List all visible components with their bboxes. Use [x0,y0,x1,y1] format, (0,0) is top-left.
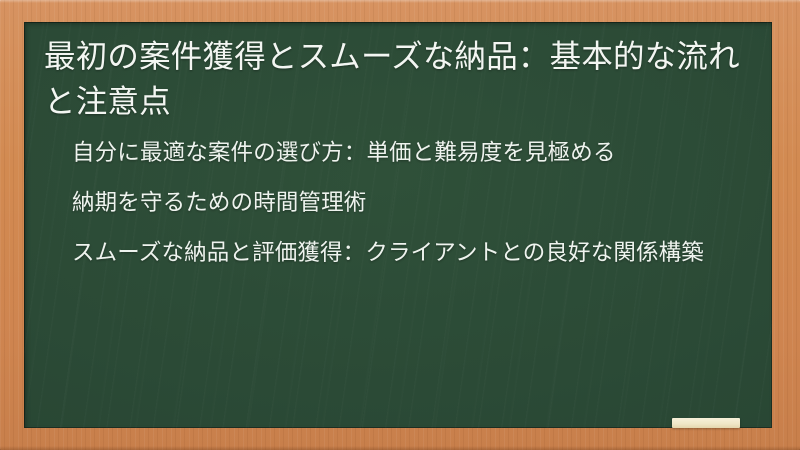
table-of-contents: 自分に最適な案件の選び方：単価と難易度を見極める 納期を守るための時間管理術 ス… [42,137,754,269]
list-item: スムーズな納品と評価獲得：クライアントとの良好な関係構築 [72,237,720,270]
page-title: 最初の案件獲得とスムーズな納品：基本的な流れと注意点 [42,30,754,123]
list-item: 納期を守るための時間管理術 [72,187,720,220]
board-content: 最初の案件獲得とスムーズな納品：基本的な流れと注意点 自分に最適な案件の選び方：… [24,22,772,428]
frame-top-highlight [0,0,800,3]
chalkboard-slide: 最初の案件獲得とスムーズな納品：基本的な流れと注意点 自分に最適な案件の選び方：… [0,0,800,450]
chalk-stick [672,418,740,428]
list-item: 自分に最適な案件の選び方：単価と難易度を見極める [72,137,720,170]
chalkboard-surface: 最初の案件獲得とスムーズな納品：基本的な流れと注意点 自分に最適な案件の選び方：… [24,22,772,428]
frame-bottom-shadow [0,446,800,450]
